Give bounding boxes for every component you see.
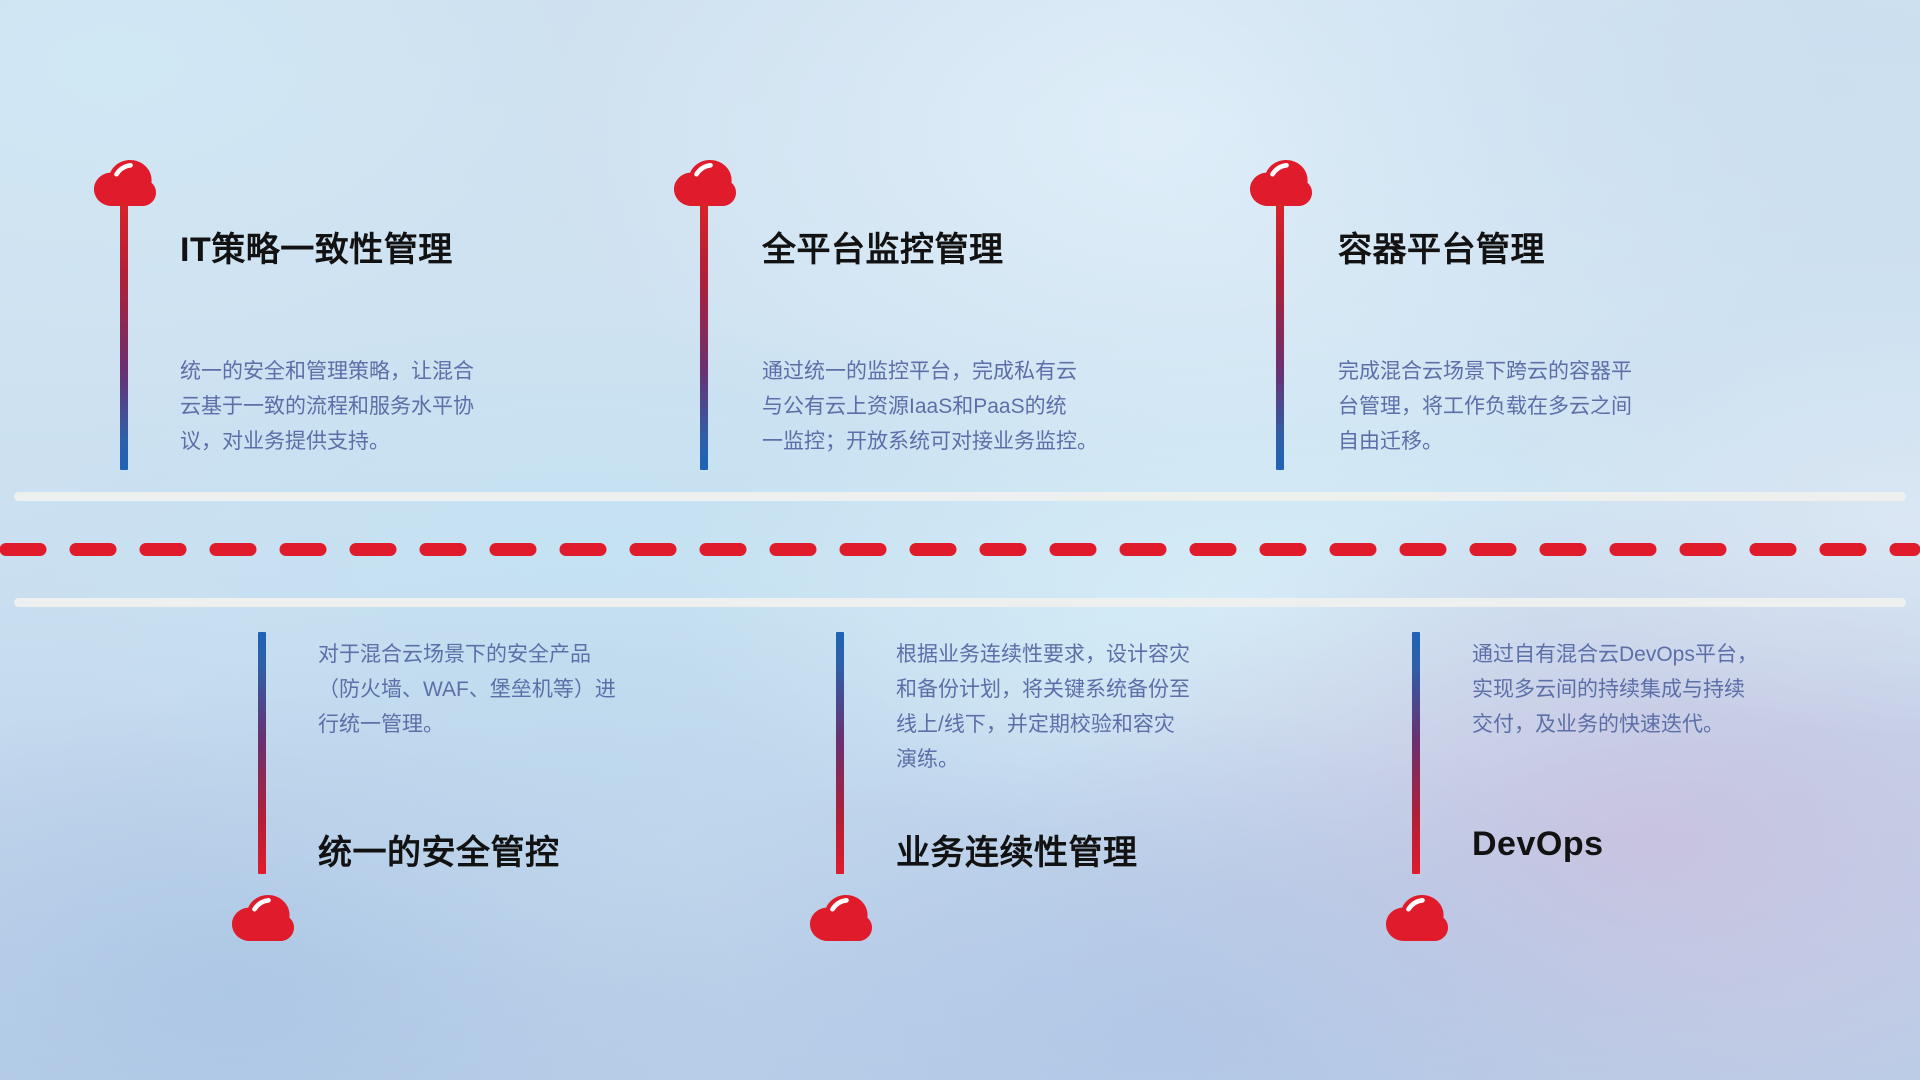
node-title-it-policy: IT策略一致性管理: [180, 222, 453, 271]
cloud-icon: [1248, 160, 1312, 208]
cloud-icon: [92, 160, 156, 208]
node-title-devops: DevOps: [1472, 825, 1604, 864]
stem-connector: [700, 204, 708, 470]
divider-dashed-red: [0, 543, 1920, 556]
stem-connector: [1412, 632, 1420, 874]
stem-connector: [120, 204, 128, 470]
node-body-container: 完成混合云场景下跨云的容器平 台管理，将工作负载在多云之间 自由迁移。: [1338, 354, 1778, 459]
infographic-canvas: IT策略一致性管理 统一的安全和管理策略，让混合 云基于一致的流程和服务水平协 …: [0, 0, 1920, 1080]
node-body-monitoring: 通过统一的监控平台，完成私有云 与公有云上资源IaaS和PaaS的统 一监控；开…: [762, 354, 1212, 459]
divider-rule-bottom: [14, 598, 1906, 607]
node-body-it-policy: 统一的安全和管理策略，让混合 云基于一致的流程和服务水平协 议，对业务提供支持。: [180, 354, 610, 459]
node-body-unified-security: 对于混合云场景下的安全产品 （防火墙、WAF、堡垒机等）进 行统一管理。: [318, 637, 748, 742]
node-title-unified-security: 统一的安全管控: [318, 825, 560, 874]
cloud-icon: [808, 895, 872, 943]
stem-connector: [258, 632, 266, 874]
stem-connector: [1276, 204, 1284, 470]
node-body-business-continuity: 根据业务连续性要求，设计容灾 和备份计划，将关键系统备份至 线上/线下，并定期校…: [896, 637, 1336, 777]
cloud-icon: [1384, 895, 1448, 943]
node-title-business-continuity: 业务连续性管理: [896, 825, 1138, 874]
node-body-devops: 通过自有混合云DevOps平台， 实现多云间的持续集成与持续 交付，及业务的快速…: [1472, 637, 1902, 742]
node-title-monitoring: 全平台监控管理: [762, 222, 1004, 271]
cloud-icon: [230, 895, 294, 943]
node-title-container: 容器平台管理: [1338, 222, 1545, 271]
divider-rule-top: [14, 492, 1906, 501]
stem-connector: [836, 632, 844, 874]
cloud-icon: [672, 160, 736, 208]
